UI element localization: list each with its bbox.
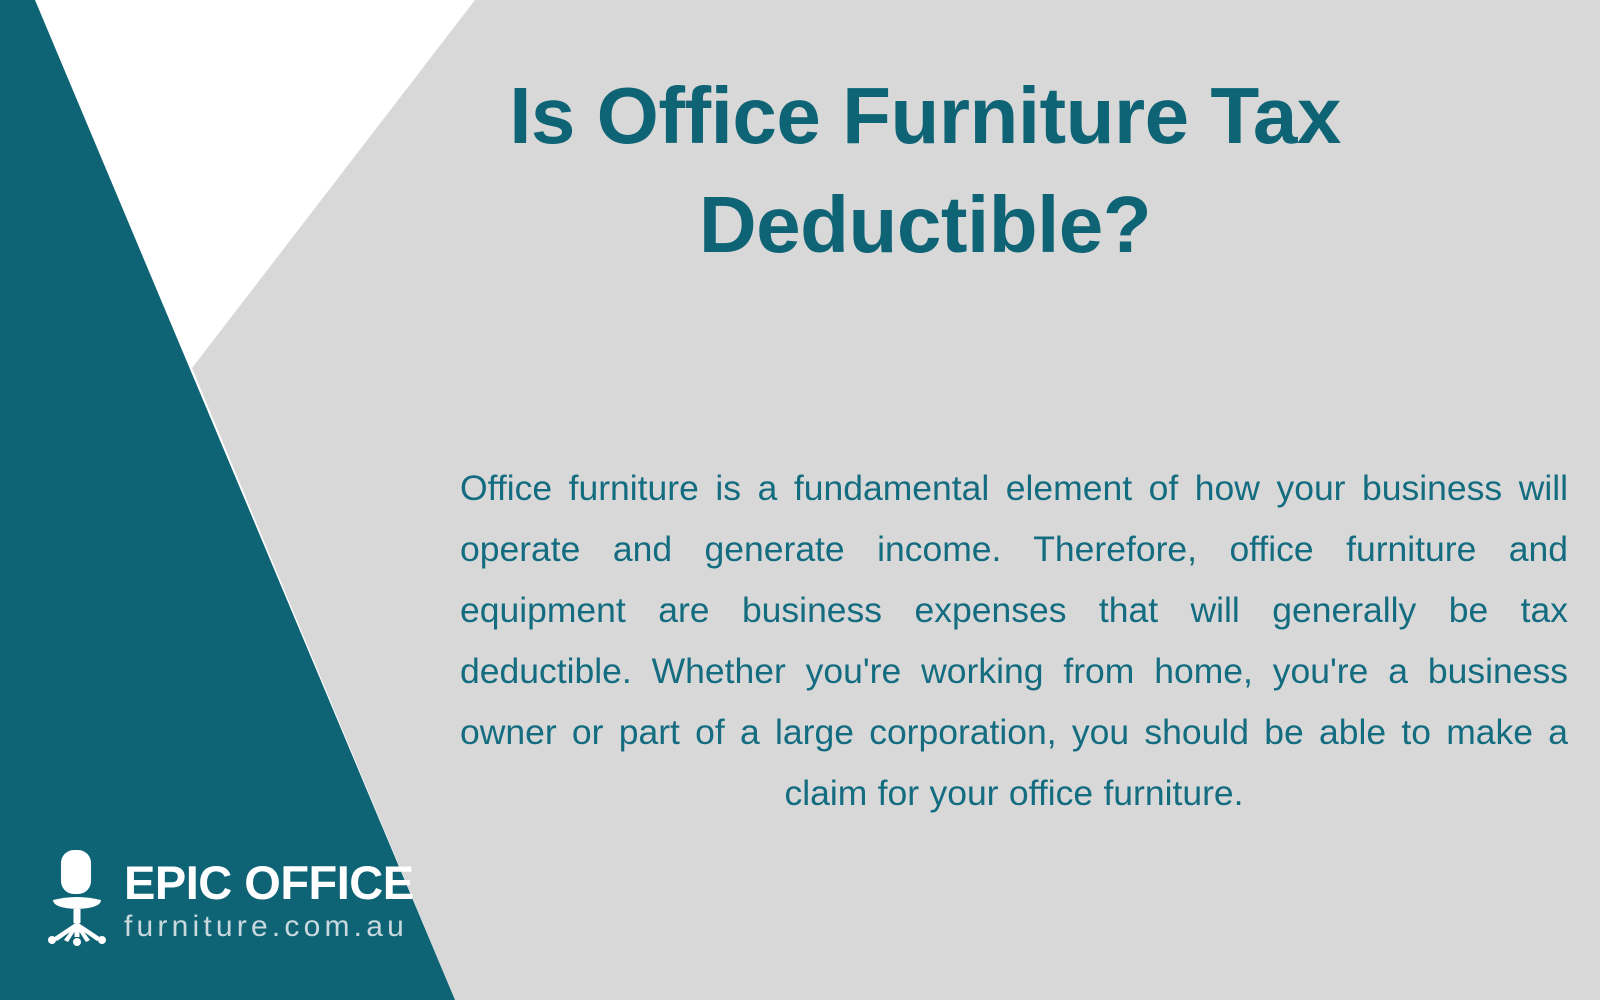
title-block: Is Office Furniture TaxDeductible?	[420, 62, 1430, 280]
slide-canvas: Is Office Furniture TaxDeductible? Offic…	[0, 0, 1600, 1000]
page-title-line-1: Is Office Furniture Tax	[509, 71, 1341, 160]
page-title-line-2: Deductible?	[699, 180, 1151, 269]
logo-wordmark: EPIC OFFICE furniture.com.au	[124, 846, 414, 944]
brand-logo: EPIC OFFICE furniture.com.au	[44, 846, 414, 946]
logo-brand-name: EPIC OFFICE	[124, 858, 414, 908]
body-block: Office furniture is a fundamental elemen…	[460, 458, 1568, 824]
office-chair-icon	[44, 848, 110, 946]
body-paragraph: Office furniture is a fundamental elemen…	[460, 458, 1568, 824]
page-title: Is Office Furniture TaxDeductible?	[420, 62, 1430, 280]
logo-domain: furniture.com.au	[124, 910, 414, 944]
